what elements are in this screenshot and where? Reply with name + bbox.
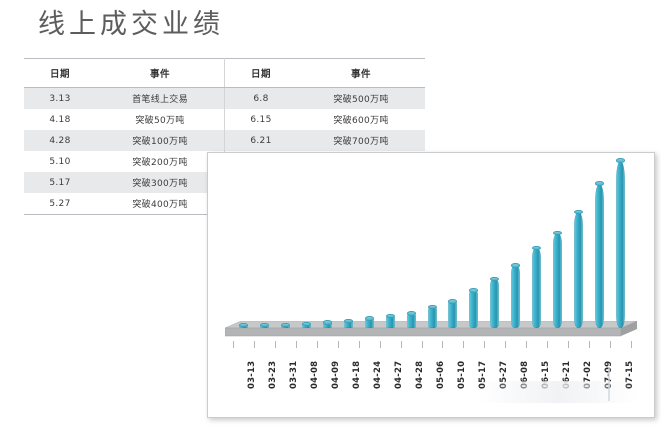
- x-tick: [359, 341, 360, 348]
- cell-event-1: 突破400万吨: [96, 193, 225, 215]
- chart-bar: [616, 161, 625, 328]
- chart-bar: [323, 323, 332, 328]
- header-date-1: 日期: [24, 59, 96, 88]
- x-tick: [442, 341, 443, 348]
- header-event-2: 事件: [297, 59, 425, 88]
- chart-bar: [595, 184, 604, 328]
- chart-bar: [365, 319, 374, 328]
- x-tick: [338, 341, 339, 348]
- chart-bar: [239, 325, 248, 328]
- watermark: [478, 381, 638, 403]
- x-axis-label: 04-09: [331, 361, 341, 389]
- chart-x-ticks: [208, 341, 654, 349]
- cell-event-1: 突破200万吨: [96, 151, 225, 172]
- cell-date-1: 5.10: [24, 151, 96, 172]
- table-header: 日期 事件 日期 事件: [24, 59, 425, 88]
- x-axis-label: 04-18: [352, 361, 362, 389]
- cell-date-1: 3.13: [24, 88, 96, 110]
- x-tick: [463, 341, 464, 348]
- x-tick: [275, 341, 276, 348]
- chart-bar: [407, 314, 416, 328]
- chart-bar: [490, 279, 499, 328]
- x-axis-label: 05-06: [436, 361, 446, 389]
- x-tick: [422, 341, 423, 348]
- x-tick: [526, 341, 527, 348]
- x-tick: [401, 341, 402, 348]
- page-title: 线上成交业绩: [38, 6, 224, 44]
- cell-event-2: 突破600万吨: [297, 109, 425, 130]
- slide-root: 线上成交业绩 日期 事件 日期 事件 3.13首笔线上交易6.8突破500万吨4…: [0, 0, 661, 434]
- cell-date-1: 4.28: [24, 130, 96, 151]
- x-axis-label: 03-23: [268, 361, 278, 389]
- header-event-1: 事件: [96, 59, 225, 88]
- cell-date-2: 6.21: [225, 130, 298, 151]
- x-axis-label: 04-27: [394, 361, 404, 389]
- cell-date-2: 6.15: [225, 109, 298, 130]
- chart-bar: [302, 324, 311, 328]
- table-row: 4.18突破50万吨6.15突破600万吨: [24, 109, 425, 130]
- x-tick: [380, 341, 381, 348]
- x-tick: [610, 341, 611, 348]
- x-tick: [547, 341, 548, 348]
- chart-bar: [386, 316, 395, 328]
- table-row: 3.13首笔线上交易6.8突破500万吨: [24, 88, 425, 110]
- x-tick: [631, 341, 632, 348]
- chart-bar: [469, 290, 478, 328]
- table-header-row: 日期 事件 日期 事件: [24, 59, 425, 88]
- x-tick: [589, 341, 590, 348]
- cell-event-2: 突破500万吨: [297, 88, 425, 110]
- chart-bar: [448, 301, 457, 328]
- x-axis-label: 04-08: [310, 361, 320, 389]
- chart-bar: [281, 325, 290, 328]
- chart-bar: [574, 212, 583, 328]
- cell-event-2: 突破700万吨: [297, 130, 425, 151]
- x-axis-label: 03-31: [289, 361, 299, 389]
- x-tick: [505, 341, 506, 348]
- cell-date-1: 4.18: [24, 109, 96, 130]
- cell-date-1: 5.17: [24, 172, 96, 193]
- x-tick: [568, 341, 569, 348]
- x-tick: [317, 341, 318, 348]
- x-tick: [296, 341, 297, 348]
- chart-bar: [532, 248, 541, 328]
- chart-bar: [553, 233, 562, 328]
- chart-bar: [511, 265, 520, 328]
- cell-event-1: 突破100万吨: [96, 130, 225, 151]
- x-axis-label: 03-13: [247, 361, 257, 389]
- x-tick: [484, 341, 485, 348]
- cell-event-1: 突破300万吨: [96, 172, 225, 193]
- cell-event-1: 突破50万吨: [96, 109, 225, 130]
- chart-bar: [260, 325, 269, 328]
- header-date-2: 日期: [225, 59, 298, 88]
- cell-date-1: 5.27: [24, 193, 96, 215]
- x-axis-label: 04-28: [415, 361, 425, 389]
- x-axis-label: 05-10: [457, 361, 467, 389]
- x-tick: [254, 341, 255, 348]
- chart-bar: [428, 307, 437, 328]
- watermark-mark: [608, 367, 610, 401]
- chart-bar: [344, 321, 353, 328]
- cell-date-2: 6.8: [225, 88, 298, 110]
- table-row: 4.28突破100万吨6.21突破700万吨: [24, 130, 425, 151]
- chart-panel: 03-1303-2303-3104-0804-0904-1804-2404-27…: [207, 152, 655, 418]
- cell-event-1: 首笔线上交易: [96, 88, 225, 110]
- chart-inner: 03-1303-2303-3104-0804-0904-1804-2404-27…: [208, 153, 654, 417]
- x-axis-label: 04-24: [373, 361, 383, 389]
- x-tick: [233, 341, 234, 348]
